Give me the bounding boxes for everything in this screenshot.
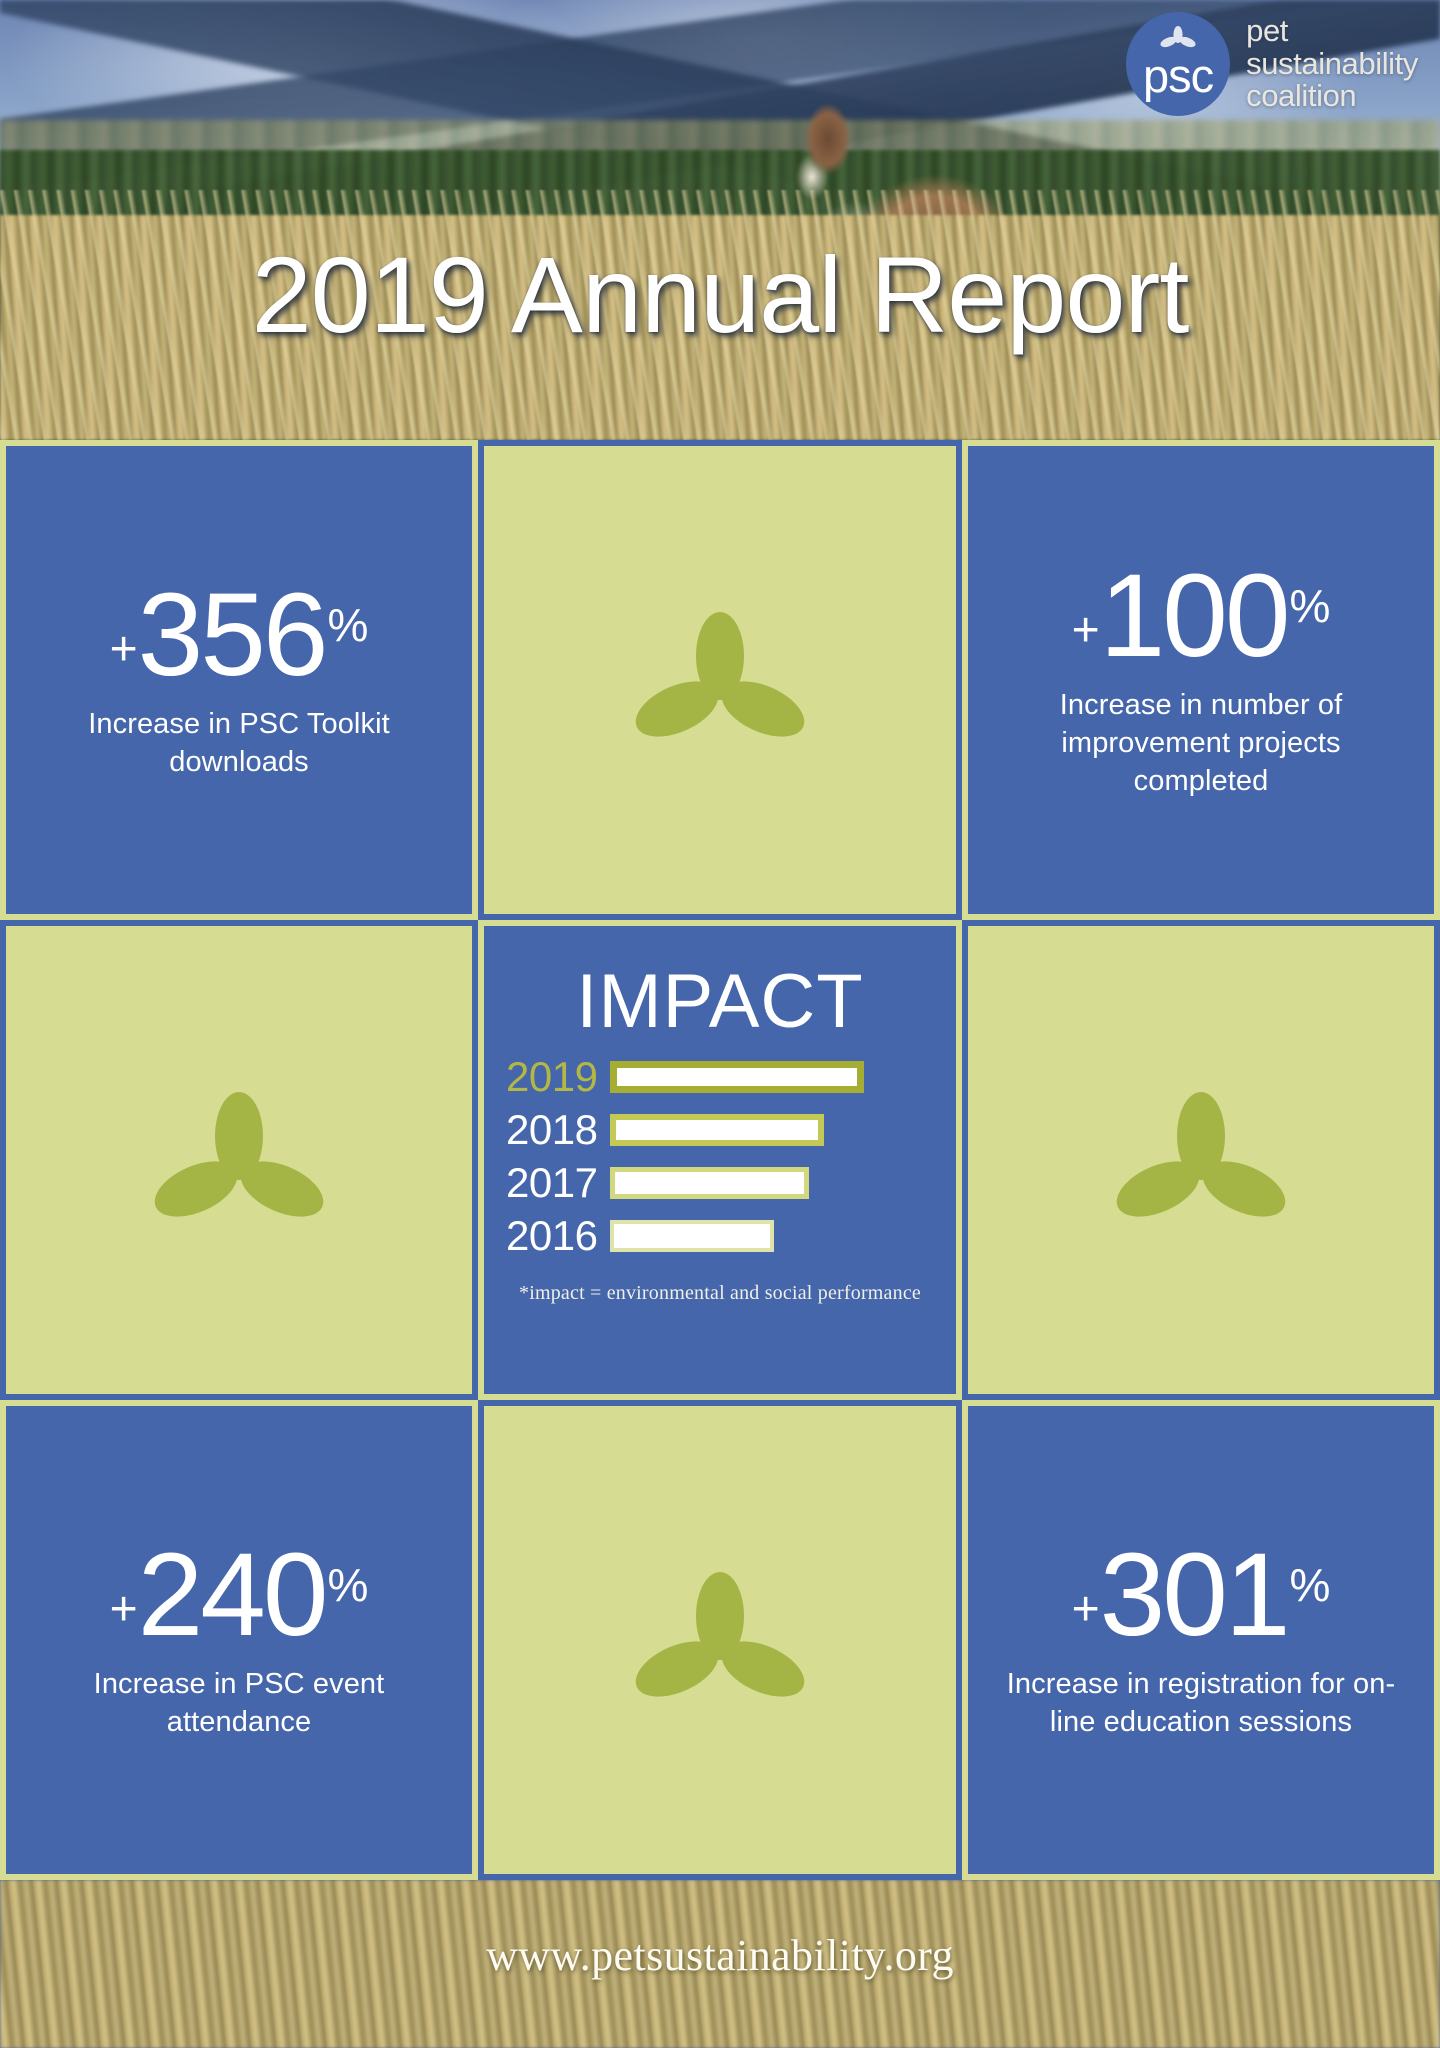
stat-percent-sign: %	[328, 604, 369, 648]
impact-bar	[610, 1167, 809, 1199]
impact-year-label: 2019	[506, 1056, 610, 1098]
stat-number: + 301 %	[1072, 1539, 1331, 1651]
stat-caption: Increase in registration for on-line edu…	[994, 1665, 1408, 1742]
stat-block: + 100 % Increase in number of improvemen…	[968, 446, 1434, 914]
leaf-cell-top	[478, 440, 962, 920]
psc-logo-text: psc	[1143, 52, 1213, 99]
psc-logo-mark: psc	[1126, 12, 1230, 116]
website-url[interactable]: www.petsustainability.org	[0, 1930, 1440, 1981]
stat-caption: Increase in number of improvement projec…	[994, 686, 1408, 801]
impact-row-2018: 2018	[506, 1109, 956, 1151]
impact-title: IMPACT	[576, 964, 863, 1040]
stat-number: + 356 %	[110, 579, 369, 691]
stat-caption: Increase in PSC Toolkit downloads	[32, 705, 446, 782]
stat-block: + 356 % Increase in PSC Toolkit download…	[6, 446, 472, 914]
logo-word-coalition: coalition	[1246, 80, 1418, 113]
impact-bar	[610, 1114, 824, 1146]
footer-banner: www.petsustainability.org	[0, 1880, 1440, 2048]
leaf-cell-middle-right	[962, 920, 1440, 1400]
stat-plus-sign: +	[1072, 1587, 1100, 1633]
impact-year-label: 2017	[506, 1162, 610, 1204]
impact-bar-chart: 2019 2018 2017 2016	[484, 1056, 956, 1268]
stat-number: + 100 %	[1072, 560, 1331, 672]
logo-word-pet: pet	[1246, 15, 1418, 48]
stat-caption: Increase in PSC event attendance	[32, 1665, 446, 1742]
stats-grid: + 356 % Increase in PSC Toolkit download…	[0, 440, 1440, 1880]
three-leaves-icon	[6, 926, 472, 1394]
impact-chart-cell: IMPACT 2019 2018 2017 2016	[478, 920, 962, 1400]
three-leaves-icon	[484, 1406, 956, 1874]
stat-plus-sign: +	[110, 1587, 138, 1633]
stat-cell-improvement-projects: + 100 % Increase in number of improvemen…	[962, 440, 1440, 920]
impact-panel: IMPACT 2019 2018 2017 2016	[484, 926, 956, 1394]
impact-bar	[610, 1220, 774, 1252]
impact-footnote: *impact = environmental and social perfo…	[519, 1282, 921, 1305]
stat-cell-online-education: + 301 % Increase in registration for on-…	[962, 1400, 1440, 1880]
leaf-cell-middle-left	[0, 920, 478, 1400]
impact-row-2016: 2016	[506, 1215, 956, 1257]
impact-bar	[610, 1061, 864, 1093]
leaf-cell-bottom	[478, 1400, 962, 1880]
stat-value: 356	[138, 579, 326, 691]
stat-percent-sign: %	[1290, 585, 1331, 629]
stat-percent-sign: %	[328, 1564, 369, 1608]
stat-value: 240	[138, 1539, 326, 1651]
stat-plus-sign: +	[110, 627, 138, 673]
stat-plus-sign: +	[1072, 608, 1100, 654]
stat-value: 100	[1100, 560, 1288, 672]
stat-value: 301	[1100, 1539, 1288, 1651]
impact-year-label: 2018	[506, 1109, 610, 1151]
impact-row-2019: 2019	[506, 1056, 956, 1098]
hero-banner: psc pet sustainability coalition 2019 An…	[0, 0, 1440, 440]
stat-block: + 301 % Increase in registration for on-…	[968, 1406, 1434, 1874]
stat-number: + 240 %	[110, 1539, 369, 1651]
stat-percent-sign: %	[1290, 1564, 1331, 1608]
stat-cell-toolkit-downloads: + 356 % Increase in PSC Toolkit download…	[0, 440, 478, 920]
stat-block: + 240 % Increase in PSC event attendance	[6, 1406, 472, 1874]
impact-row-2017: 2017	[506, 1162, 956, 1204]
stat-cell-event-attendance: + 240 % Increase in PSC event attendance	[0, 1400, 478, 1880]
page-title: 2019 Annual Report	[0, 232, 1440, 357]
impact-year-label: 2016	[506, 1215, 610, 1257]
logo-word-sustainability: sustainability	[1246, 48, 1418, 81]
three-leaves-icon	[968, 926, 1434, 1394]
three-leaves-icon	[484, 446, 956, 914]
psc-logo-wordmark: pet sustainability coalition	[1246, 15, 1418, 114]
psc-logo[interactable]: psc pet sustainability coalition	[1126, 12, 1418, 116]
